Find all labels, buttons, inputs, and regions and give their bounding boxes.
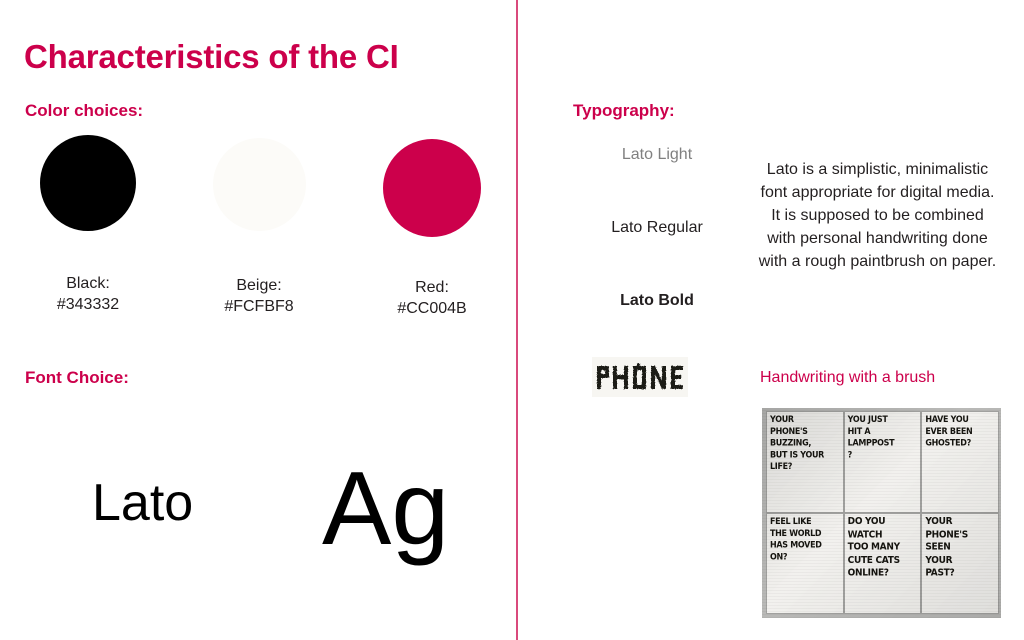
poster-text: YOU JUST HIT A LAMPPOST ? <box>848 414 920 461</box>
poster-item: YOUR PHONE'S BUZZING, BUT IS YOUR LIFE? <box>767 412 843 512</box>
brush-word-phone-image <box>592 357 688 397</box>
red-swatch-label: Red: #CC004B <box>346 277 518 319</box>
beige-swatch-circle <box>213 138 306 231</box>
color-swatch-beige: Beige: #FCFBF8 <box>173 130 345 317</box>
font-choice-heading: Font Choice: <box>25 368 129 388</box>
poster-item: FEEL LIKE THE WORLD HAS MOVED ON? <box>767 514 843 614</box>
poster-text: FEEL LIKE THE WORLD HAS MOVED ON? <box>770 516 842 563</box>
poster-item: DO YOU WATCH TOO MANY CUTE CATS ONLINE? <box>845 514 921 614</box>
poster-text: DO YOU WATCH TOO MANY CUTE CATS ONLINE? <box>848 516 920 580</box>
poster-photo: YOUR PHONE'S BUZZING, BUT IS YOUR LIFE? … <box>762 408 1001 618</box>
color-swatch-group: Black: #343332 Beige: #FCFBF8 Red: #CC00… <box>0 130 516 320</box>
font-weight-light-sample: Lato Light <box>573 146 741 164</box>
handwriting-caption: Handwriting with a brush <box>760 369 935 387</box>
font-specimen-glyphs: Ag <box>322 450 449 568</box>
font-weight-bold-sample: Lato Bold <box>573 292 741 310</box>
poster-grid: YOUR PHONE'S BUZZING, BUT IS YOUR LIFE? … <box>762 408 1001 618</box>
typography-heading: Typography: <box>573 101 675 121</box>
poster-text: YOUR PHONE'S BUZZING, BUT IS YOUR LIFE? <box>770 414 842 473</box>
page-title: Characteristics of the CI <box>24 38 399 76</box>
poster-item: HAVE YOU EVER BEEN GHOSTED? <box>922 412 998 512</box>
typography-description: Lato is a simplistic, minimalistic font … <box>756 158 999 273</box>
beige-swatch-label: Beige: #FCFBF8 <box>173 275 345 317</box>
poster-text: YOUR PHONE'S SEEN YOUR PAST? <box>925 516 997 580</box>
font-specimen-name: Lato <box>92 472 193 534</box>
vertical-divider <box>516 0 518 640</box>
font-weight-regular-sample: Lato Regular <box>573 219 741 237</box>
color-swatch-black: Black: #343332 <box>2 130 174 315</box>
poster-text: HAVE YOU EVER BEEN GHOSTED? <box>925 414 997 449</box>
font-weight-list: Lato Light Lato Regular Lato Bold <box>573 140 741 310</box>
slide-canvas: Characteristics of the CI Color choices:… <box>0 0 1024 640</box>
poster-item: YOU JUST HIT A LAMPPOST ? <box>845 412 921 512</box>
color-swatch-red: Red: #CC004B <box>346 130 518 319</box>
poster-item: YOUR PHONE'S SEEN YOUR PAST? <box>922 514 998 614</box>
black-swatch-label: Black: #343332 <box>2 273 174 315</box>
red-swatch-circle <box>383 139 481 237</box>
black-swatch-circle <box>40 135 136 231</box>
color-choices-heading: Color choices: <box>25 101 143 121</box>
